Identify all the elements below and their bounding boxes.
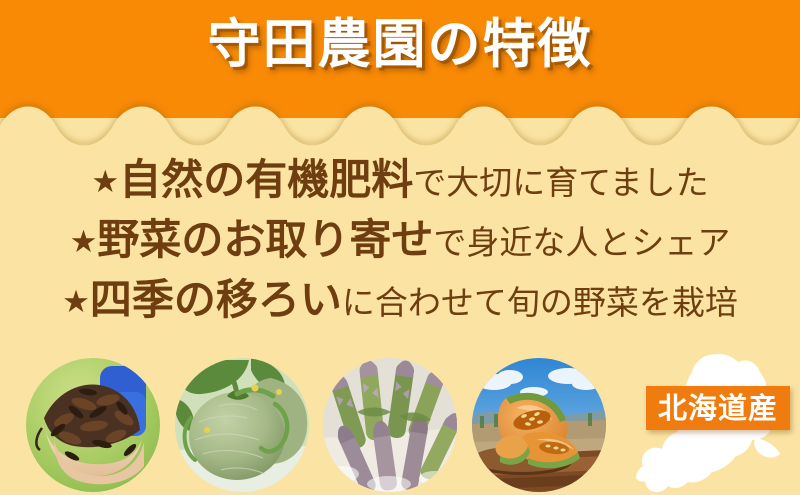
compost-soil-in-hands-photo [26, 358, 160, 492]
origin-badge: 北海道産 [634, 352, 800, 495]
feature-emphasis: 野菜のお取り寄せ [97, 215, 433, 264]
feature-list: ★自然の有機肥料で大切に育てました ★野菜のお取り寄せで身近な人とシェア ★四季… [0, 150, 800, 330]
feature-item: ★野菜のお取り寄せで身近な人とシェア [0, 210, 800, 270]
origin-badge-label: 北海道産 [646, 386, 790, 430]
feature-rest: で大切に育てました [413, 163, 708, 202]
origin-badge-text: 北海道産 [658, 394, 778, 423]
star-icon: ★ [70, 224, 98, 260]
feature-emphasis: 四季の移ろい [90, 275, 342, 324]
star-icon: ★ [62, 284, 90, 320]
header-band: 守田農園の特徴 [0, 0, 800, 118]
feature-rest: で身近な人とシェア [433, 223, 730, 262]
green-melon-on-vine-photo [175, 358, 309, 492]
feature-item: ★自然の有機肥料で大切に育てました [0, 150, 800, 210]
feature-rest: に合わせて旬の野菜を栽培 [342, 283, 738, 322]
feature-item: ★四季の移ろいに合わせて旬の野菜を栽培 [0, 270, 800, 330]
star-icon: ★ [91, 164, 119, 200]
page-title: 守田農園の特徴 [0, 16, 800, 74]
promo-banner: 守田農園の特徴 ★自然の有機肥料で大切に育てました ★野菜のお取り寄せで身近な人… [0, 0, 800, 495]
asparagus-spears-photo [323, 358, 457, 492]
cut-orange-melon-photo [472, 358, 606, 492]
feature-emphasis: 自然の有機肥料 [119, 155, 413, 204]
